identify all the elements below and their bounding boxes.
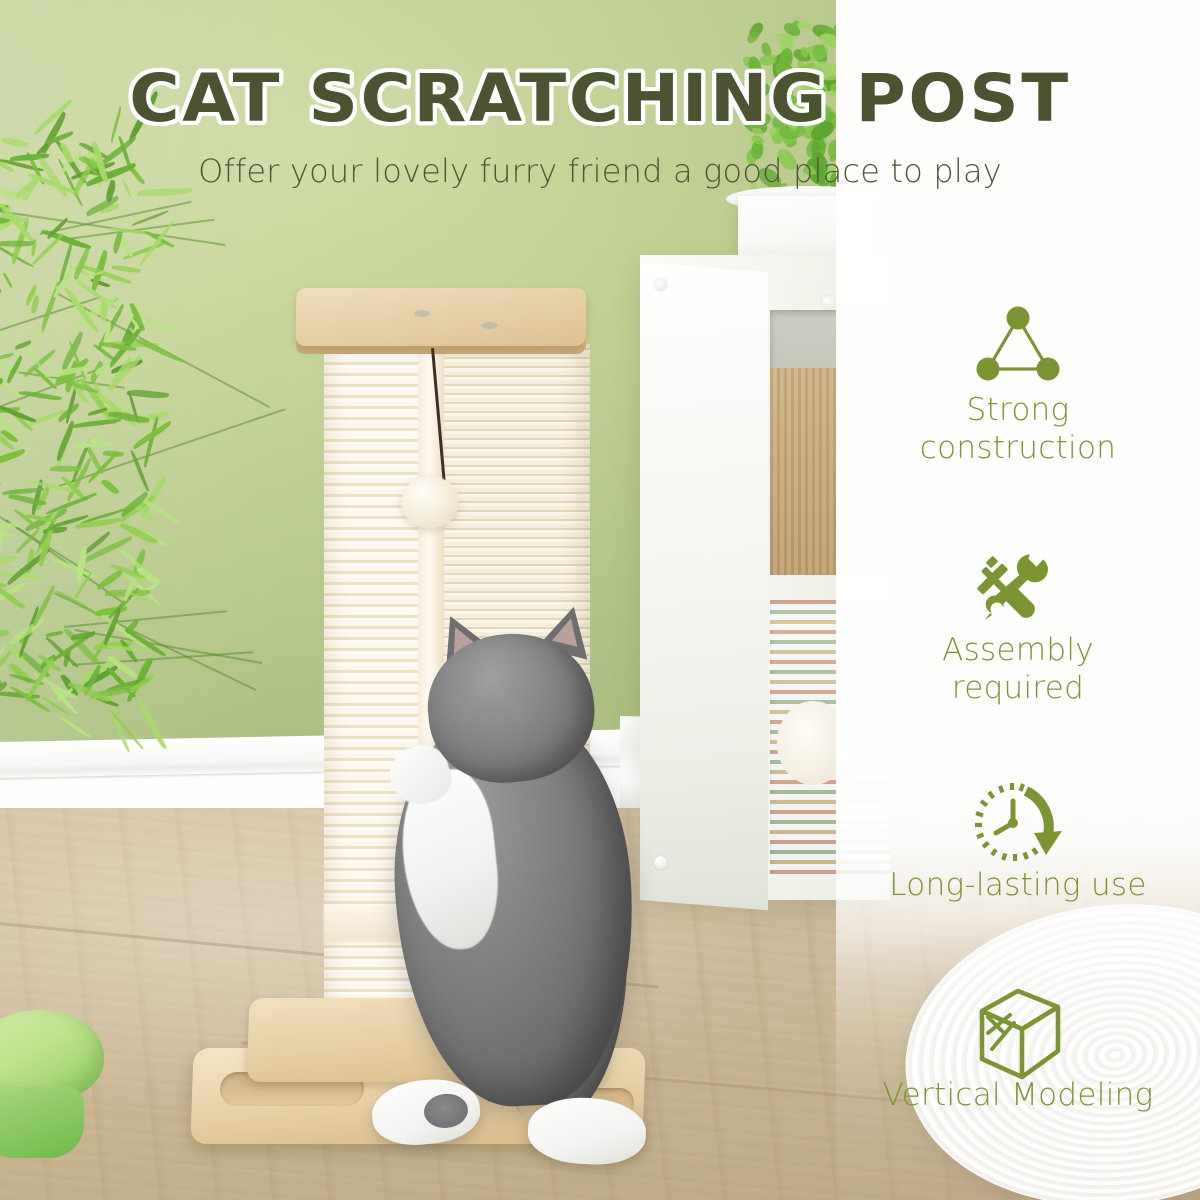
product-marketing-image: Strong construction [0,0,1200,1200]
bamboo-leaf [73,418,121,427]
cube-box-icon [836,985,1200,1077]
bamboo-leaf [2,272,12,289]
bamboo-leaf [71,632,96,640]
bamboo-leaf [0,555,17,564]
wrench-screwdriver-icon [836,540,1200,632]
bamboo-leaf [46,631,63,637]
top-board-marking [482,322,498,329]
feature-label-line1: Long-lasting use [836,867,1200,905]
bamboo-leaf [75,518,122,529]
grey-and-white-cat [360,620,690,1180]
bamboo-leaf [95,569,124,590]
bamboo-leaf [51,557,98,581]
pompom-toy-ball [401,476,459,528]
feature-label-line1: Strong [836,392,1200,430]
feature-label-line1: Vertical Modeling [836,1077,1200,1115]
feature-label-line1: Assembly [836,632,1200,670]
bamboo-leaf [29,328,43,343]
feature-label-line2: construction [836,430,1200,468]
top-board-marking [414,310,430,317]
bamboo-leaf [0,240,35,247]
feature-long-lasting-use: Long-lasting use [836,775,1200,905]
feature-label-line2: required [836,670,1200,708]
page-title: CAT SCRATCHING POST [0,60,1200,137]
shelf-screw-cap [822,296,835,309]
bamboo-leaf [111,264,140,274]
feature-assembly-required: Assembly required [836,540,1200,708]
triangle-nodes-icon [836,300,1200,392]
bamboo-leaf [0,449,26,468]
post-top-board [295,288,586,346]
bamboo-leaf [60,716,91,740]
bamboo-leaf [79,443,114,448]
bamboo-leaf [100,477,119,496]
cat-ear-inner [552,615,584,647]
feature-strong-construction: Strong construction [836,300,1200,468]
bamboo-leaf [0,333,5,337]
cat-toe-pad [422,1092,469,1130]
bamboo-leaf [0,352,14,360]
bamboo-leaf [1,135,29,150]
feature-vertical-modeling: Vertical Modeling [836,985,1200,1115]
pet-bowl-pedestal [0,1086,84,1158]
clock-arrow-icon [836,775,1200,867]
bamboo-leaf [0,466,1,487]
cat-hind-foot-right [526,1095,647,1167]
page-subtitle: Offer your lovely furry friend a good pl… [0,152,1200,190]
bamboo-leaf [0,629,10,637]
bamboo-leaf [0,248,2,295]
